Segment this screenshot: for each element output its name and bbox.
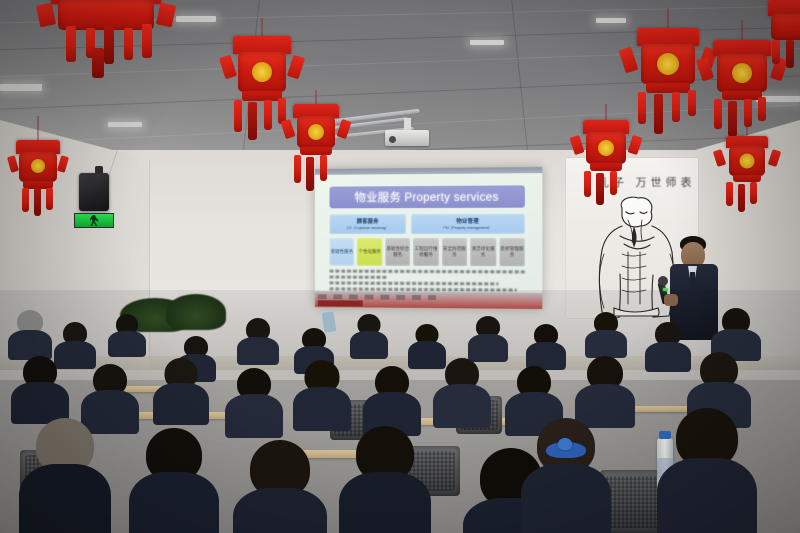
exit-sign: [74, 213, 114, 228]
bullet-line: [330, 276, 387, 279]
slide-tile: 基础性服务: [330, 238, 355, 266]
lantern: [278, 104, 354, 214]
lantern: [8, 140, 68, 240]
attendee: [528, 324, 564, 368]
header-cn-label: 顾客服务: [357, 217, 379, 225]
slide-title: 物业服务 Property services: [330, 185, 525, 208]
slide-tile-row: 基础性服务 个性化服务 基础性综合服务 工程运行维修服务 安全防范服务 清洁绿化…: [330, 238, 525, 266]
attendee: [14, 356, 66, 420]
attendee: [588, 312, 624, 356]
attendee: [228, 368, 280, 434]
attendee: [10, 310, 50, 356]
attendee: [648, 322, 688, 370]
audience-area: [0, 300, 800, 533]
exit-sign-glow: [75, 214, 113, 227]
lantern: [712, 136, 782, 232]
conference-room-photo: 孔子 万世师表 物业服务 Proper: [0, 0, 800, 533]
header-en-label: CS（Customer servicing）: [347, 226, 389, 231]
microphone-led: [663, 288, 668, 291]
bullet-line: [330, 281, 499, 285]
attendee: [156, 358, 206, 422]
slide-tile: 装修管理服务: [499, 238, 525, 266]
attendee: [470, 316, 506, 360]
attendee-with-bow: [528, 418, 604, 530]
wall-speaker: [79, 173, 109, 211]
projector-lens: [389, 136, 396, 143]
bullet-line: [330, 270, 525, 274]
slide-tile-highlighted: 个性化服务: [357, 238, 382, 266]
header-cn-label: 物业管理: [456, 217, 479, 225]
attendee: [240, 440, 320, 533]
hair-bow-knot: [558, 438, 572, 450]
running-man-icon: [90, 215, 99, 226]
ceiling-light: [108, 122, 142, 127]
attendee: [240, 318, 276, 362]
attendee: [296, 360, 348, 426]
slide-tile: 工程运行维修服务: [413, 238, 438, 266]
attendee: [436, 358, 488, 424]
slide-header-customer-servicing: 顾客服务 CS（Customer servicing）: [330, 214, 407, 234]
slide-tile: 安全防范服务: [442, 238, 468, 266]
lantern: [36, 0, 176, 66]
plant: [166, 294, 226, 330]
slide-header-row: 顾客服务 CS（Customer servicing） 物业管理 PM（Prop…: [330, 214, 525, 234]
attendee: [136, 428, 212, 533]
attendee: [664, 408, 750, 533]
attendee: [346, 426, 424, 533]
attendee: [26, 418, 104, 533]
header-en-label: PM（Property management）: [443, 226, 491, 231]
ceiling-light: [0, 84, 42, 91]
lantern: [760, 0, 800, 70]
attendee: [366, 366, 418, 432]
projector-arm: [404, 118, 411, 130]
attendee: [352, 314, 386, 356]
presenter-tie: [690, 272, 695, 292]
attendee: [578, 356, 632, 424]
slide-header-property-management: 物业管理 PM（Property management）: [411, 214, 525, 234]
ceiling-light: [596, 18, 626, 23]
slide-tile: 基础性综合服务: [385, 238, 410, 266]
attendee: [110, 314, 144, 354]
ceiling-light: [470, 40, 504, 45]
ceiling-light: [176, 16, 216, 22]
slide-tile: 清洁绿化服务: [470, 238, 496, 266]
attendee: [714, 308, 758, 358]
microphone-head: [658, 276, 668, 286]
